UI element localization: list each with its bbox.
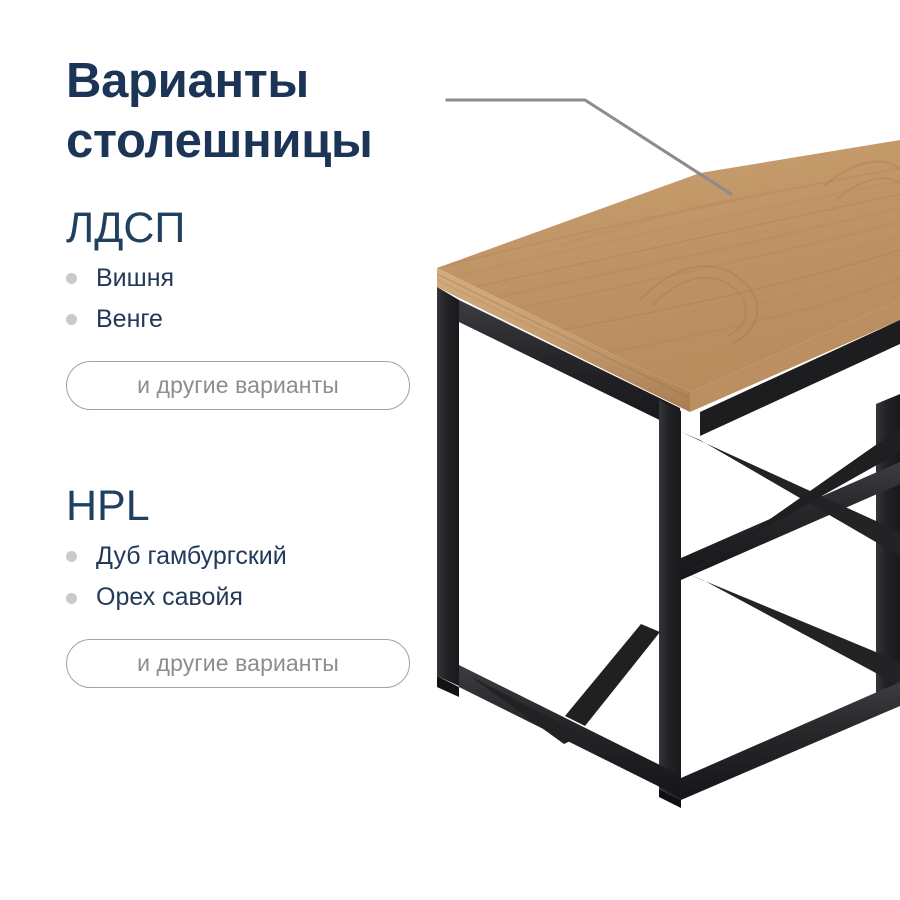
- promo-banner: Варианты столешницы ЛДСП Вишня Венге и д…: [0, 0, 900, 900]
- list-item: Орех савойя: [66, 584, 446, 612]
- option-label: Дуб гамбургский: [96, 543, 287, 571]
- option-list-ldsp: Вишня Венге: [66, 265, 446, 334]
- material-section-ldsp: ЛДСП Вишня Венге и другие варианты: [66, 206, 446, 410]
- option-label: Венге: [96, 306, 163, 334]
- bullet-dot-icon: [66, 593, 77, 604]
- bullet-dot-icon: [66, 314, 77, 325]
- bullet-dot-icon: [66, 273, 77, 284]
- more-options-pill-ldsp[interactable]: и другие варианты: [66, 361, 410, 410]
- list-item: Венге: [66, 306, 446, 334]
- info-panel: Варианты столешницы ЛДСП Вишня Венге и д…: [66, 52, 446, 688]
- brace-left-diagonal: [565, 624, 660, 726]
- bullet-dot-icon: [66, 551, 77, 562]
- section-title-hpl: HPL: [66, 484, 446, 529]
- rail-bottom-right: [681, 682, 900, 800]
- material-section-hpl: HPL Дуб гамбургский Орех савойя и другие…: [66, 484, 446, 688]
- leg-center: [659, 400, 681, 800]
- page-title: Варианты столешницы: [66, 52, 446, 172]
- option-list-hpl: Дуб гамбургский Орех савойя: [66, 543, 446, 612]
- section-title-ldsp: ЛДСП: [66, 206, 446, 251]
- list-item: Вишня: [66, 265, 446, 293]
- more-options-pill-hpl[interactable]: и другие варианты: [66, 639, 410, 688]
- list-item: Дуб гамбургский: [66, 543, 446, 571]
- option-label: Орех савойя: [96, 584, 243, 612]
- brace-front-foot: [470, 676, 583, 744]
- option-label: Вишня: [96, 265, 174, 293]
- brace-zigzag-c: [683, 572, 900, 686]
